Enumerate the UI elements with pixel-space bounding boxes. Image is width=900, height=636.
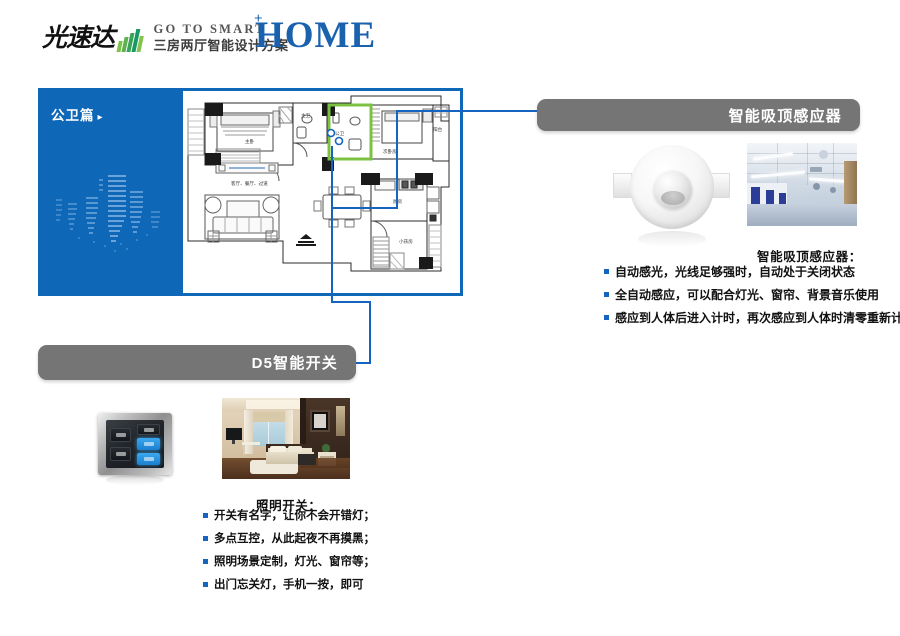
switch-frame (98, 413, 172, 475)
plus-icon: + (254, 11, 263, 28)
list-item: 出门忘关灯，手机一按，即可 (203, 575, 375, 595)
connector-sensor-h2 (396, 110, 541, 112)
bullet-marker (203, 559, 208, 564)
svg-text:主卫: 主卫 (301, 112, 311, 119)
list-item-label: 开关有名字，让你不会开错灯； (214, 506, 375, 526)
list-item-label: 全自动感应，可以配合灯光、窗帘、背景音乐使用 (615, 285, 879, 305)
section-title-label: 公卫篇 (51, 108, 95, 123)
touch-switch-panel-icon (98, 413, 178, 485)
list-item-label: 多点互控，从此起夜不再摸黑； (214, 529, 375, 549)
bedroom-interior-photo (222, 398, 350, 479)
list-item-label: 照明场景定制，灯光、窗帘等； (214, 552, 375, 572)
connector-sensor-v2 (396, 110, 398, 209)
ceiling-sensor-icon (608, 143, 736, 247)
svg-text:小孩房: 小孩房 (399, 238, 413, 245)
home-word: HOME (255, 15, 376, 56)
sensor-feature-list: 自动感光，光线足够强时，自动处于关闭状态 全自动感应，可以配合灯光、窗帘、背景音… (604, 262, 900, 331)
svg-text:阳台: 阳台 (433, 126, 443, 133)
svg-text:公卫: 公卫 (335, 131, 345, 137)
switch-face (106, 420, 164, 468)
city-skyline-icon (56, 163, 176, 263)
switch-reflection (106, 475, 164, 485)
list-item-label: 自动感光，光线足够强时，自动处于关闭状态 (615, 262, 855, 282)
bullet-marker (604, 292, 609, 297)
floor-plan: 主卧 主卫 公卫 次卧房 阳台 厨房 小孩房 客厅、餐厅、过道 (183, 91, 460, 293)
connector-sensor-v1 (331, 146, 333, 209)
connector-switch-v2 (369, 301, 371, 363)
floor-plan-drawing: 主卧 主卫 公卫 次卧房 阳台 厨房 小孩房 客厅、餐厅、过道 (183, 91, 460, 293)
list-item: 多点互控，从此起夜不再摸黑； (203, 529, 375, 549)
svg-text:主卧: 主卧 (245, 138, 255, 145)
list-item: 照明场景定制，灯光、窗帘等； (203, 552, 375, 572)
bullet-marker (604, 269, 609, 274)
office-ceiling-photo (747, 143, 857, 226)
list-item: 全自动感应，可以配合灯光、窗帘、背景音乐使用 (604, 285, 900, 305)
brand-logo: 光速达 GO TO SMART 三房两厅智能设计方案 (42, 22, 289, 54)
list-item: 开关有名字，让你不会开错灯； (203, 506, 375, 526)
list-item-label: 感应到人体后进入计时，再次感应到人体时清零重新计时 (615, 308, 900, 328)
sensor-section-title: 智能吸顶感应器 (729, 105, 860, 126)
green-bars-icon (116, 28, 145, 52)
bullet-marker (203, 513, 208, 518)
sensor-reflection (638, 231, 706, 247)
bullet-marker (203, 582, 208, 587)
switch-section-title: D5智能开关 (252, 352, 356, 373)
connector-switch-v1 (331, 207, 333, 303)
section-title: 公卫篇▸ (51, 104, 104, 124)
connector-sensor-h1 (331, 207, 397, 209)
bullet-marker (203, 536, 208, 541)
svg-text:客厅、餐厅、过道: 客厅、餐厅、过道 (231, 180, 268, 187)
sensor-dome (654, 171, 692, 209)
poster-page: 光速达 GO TO SMART 三房两厅智能设计方案 + HOME 公卫篇▸ (0, 0, 900, 636)
brand-name-cn: 光速达 (42, 24, 114, 54)
photo-floor (747, 204, 857, 226)
switch-section-header: D5智能开关 (38, 345, 356, 380)
page-header: 光速达 GO TO SMART 三房两厅智能设计方案 + HOME (0, 0, 900, 72)
list-item: 自动感光，光线足够强时，自动处于关闭状态 (604, 262, 900, 282)
list-item: 感应到人体后进入计时，再次感应到人体时清零重新计时 (604, 308, 900, 328)
list-item-label: 出门忘关灯，手机一按，即可 (214, 575, 364, 595)
switch-feature-list: 开关有名字，让你不会开错灯； 多点互控，从此起夜不再摸黑； 照明场景定制，灯光、… (203, 506, 375, 598)
home-wordmark: + HOME (255, 14, 376, 58)
photo-sensor-dot (819, 150, 828, 159)
bullet-marker (604, 315, 609, 320)
connector-switch-h1 (331, 301, 371, 303)
caret-right-icon: ▸ (98, 112, 104, 123)
sensor-section-header: 智能吸顶感应器 (537, 99, 860, 131)
